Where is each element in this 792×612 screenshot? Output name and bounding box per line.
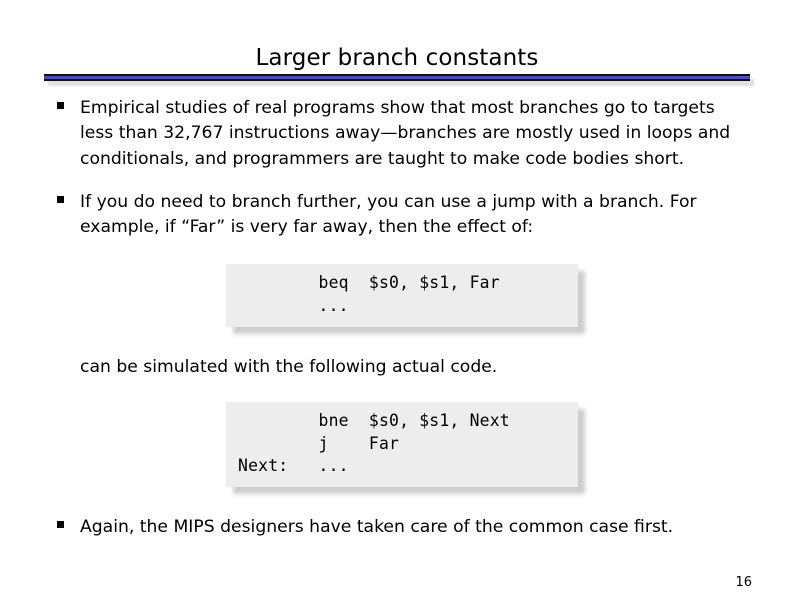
spacer [0, 242, 792, 264]
bullet-item-2: If you do need to branch further, you ca… [0, 190, 792, 241]
slide-body: Empirical studies of real programs show … [0, 96, 792, 542]
bullet-item-3-text: Again, the MIPS designers have taken car… [80, 515, 750, 540]
title-divider [44, 74, 750, 86]
code-line: j Far [238, 433, 566, 456]
code-line: Next: ... [238, 455, 566, 478]
square-bullet-icon [57, 521, 64, 528]
square-bullet-icon [57, 196, 64, 203]
bullet-item-1-text: Empirical studies of real programs show … [80, 96, 750, 172]
code-block-beq-box: beq $s0, $s1, Far ... [226, 264, 578, 326]
spacer [0, 174, 792, 190]
page-title: Larger branch constants [44, 44, 750, 72]
bullet-item-3: Again, the MIPS designers have taken car… [0, 515, 792, 540]
square-bullet-icon [57, 102, 64, 109]
bullet-item-2-text: If you do need to branch further, you ca… [80, 190, 750, 241]
code-line: ... [238, 295, 566, 318]
middle-paragraph: can be simulated with the following actu… [0, 355, 792, 380]
spacer [0, 380, 792, 402]
code-line: beq $s0, $s1, Far [238, 272, 566, 295]
code-block-beq: beq $s0, $s1, Far ... [226, 264, 578, 326]
code-line: bne $s0, $s1, Next [238, 410, 566, 433]
code-block-bne: bne $s0, $s1, Next j Far Next: ... [226, 402, 578, 487]
bullet-item-1: Empirical studies of real programs show … [0, 96, 792, 172]
slide-canvas: Larger branch constants Empirical studie… [0, 0, 792, 612]
code-block-bne-box: bne $s0, $s1, Next j Far Next: ... [226, 402, 578, 487]
page-number: 16 [735, 575, 752, 590]
title-divider-bar [44, 74, 750, 81]
